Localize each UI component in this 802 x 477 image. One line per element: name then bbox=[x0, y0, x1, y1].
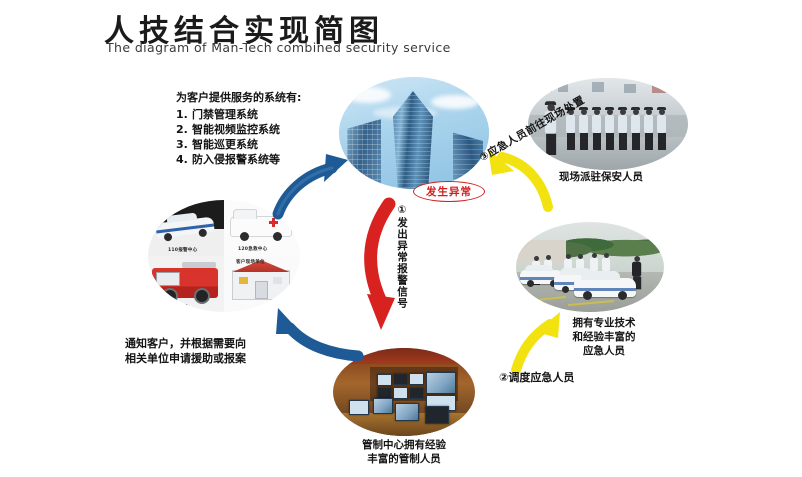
guard-head bbox=[633, 109, 639, 115]
officer-body bbox=[632, 262, 641, 277]
page-title-en: The diagram of Man-Tech combined securit… bbox=[106, 40, 451, 55]
list-item: 1.门禁管理系统 bbox=[176, 107, 301, 122]
guard-head bbox=[581, 109, 587, 115]
guard-body bbox=[631, 115, 640, 133]
car-wheel bbox=[527, 280, 534, 287]
service-list-heading: 为客户提供服务的系统有: bbox=[176, 90, 301, 105]
list-item-number: 4. bbox=[176, 152, 192, 167]
guard-body bbox=[618, 115, 627, 133]
caption-line: 管制中心拥有经验 bbox=[329, 438, 479, 452]
site-building bbox=[232, 270, 290, 300]
status-badge-abnormal: 发生异常 bbox=[413, 181, 485, 202]
guard-figure bbox=[618, 107, 627, 150]
window-shape bbox=[558, 83, 568, 92]
background-wall bbox=[516, 240, 566, 263]
window-shape bbox=[542, 84, 552, 92]
car-wheel bbox=[240, 232, 249, 241]
car-cabin bbox=[166, 213, 197, 224]
guard-body bbox=[644, 115, 653, 133]
caption-control-center: 管制中心拥有经验 丰富的管制人员 bbox=[329, 438, 479, 466]
notify-line: 相关单位申请援助或报案 bbox=[125, 351, 246, 366]
caption-line: 丰富的管制人员 bbox=[329, 452, 479, 466]
caption-onsite-guards: 现场派驻保安人员 bbox=[559, 170, 643, 184]
guard-body bbox=[592, 115, 601, 133]
wall-monitor bbox=[377, 374, 392, 386]
guard-body bbox=[605, 115, 614, 133]
list-item-number: 1. bbox=[176, 107, 192, 122]
red-arrow-alarm-signal bbox=[355, 198, 421, 338]
wall-map-display bbox=[426, 372, 456, 394]
fire-truck bbox=[152, 268, 218, 298]
window-shape bbox=[652, 83, 666, 93]
quadrant-label-site: 客户现场单位 bbox=[236, 259, 265, 265]
wall-monitor bbox=[409, 387, 424, 399]
ladder bbox=[182, 262, 216, 268]
list-item-label: 防入侵报警系统等 bbox=[192, 153, 280, 166]
guard-body bbox=[566, 115, 575, 133]
guard-legs bbox=[645, 133, 653, 150]
guard-legs bbox=[580, 133, 588, 150]
quadrant-label-police: 110报警中心 bbox=[168, 247, 197, 253]
list-item-label: 门禁管理系统 bbox=[192, 108, 258, 121]
car-wheel bbox=[164, 233, 173, 242]
blue-arrow-notify-client bbox=[272, 300, 364, 366]
car-wheel bbox=[273, 232, 282, 241]
building-window bbox=[239, 277, 248, 284]
list-item-label: 智能视频监控系统 bbox=[192, 123, 280, 136]
cloud-shape bbox=[431, 95, 479, 109]
list-item-label: 智能巡更系统 bbox=[192, 138, 258, 151]
desk-monitor bbox=[349, 400, 369, 415]
cloud-shape bbox=[345, 87, 391, 103]
guard-legs bbox=[632, 133, 640, 150]
desk-monitor bbox=[373, 398, 393, 414]
quadrant-label-ambulance: 120急救中心 bbox=[238, 246, 267, 252]
wall-monitor bbox=[393, 387, 408, 399]
window-shape bbox=[624, 84, 636, 93]
car-wheel bbox=[618, 291, 627, 300]
guard-legs bbox=[606, 133, 614, 150]
blue-arrow-to-building bbox=[272, 148, 364, 222]
guard-figure bbox=[605, 107, 614, 150]
desk-monitor bbox=[425, 406, 449, 424]
window-shape bbox=[592, 82, 604, 92]
officer-body bbox=[602, 258, 610, 271]
desk-monitor bbox=[395, 403, 419, 421]
wall-monitor bbox=[409, 373, 424, 385]
guard-head bbox=[620, 109, 626, 115]
guard-head bbox=[646, 109, 652, 115]
car-stripe bbox=[574, 288, 636, 291]
officer-body bbox=[590, 258, 598, 271]
guard-head bbox=[607, 109, 613, 115]
guard-figure bbox=[592, 107, 601, 150]
guard-body bbox=[657, 115, 666, 133]
guard-head bbox=[594, 109, 600, 115]
quadrant-label-fire: 119火警中心 bbox=[160, 304, 189, 310]
car-wheel bbox=[562, 286, 569, 293]
truck-window bbox=[156, 272, 180, 286]
truck-wheel bbox=[194, 288, 210, 304]
list-item-number: 3. bbox=[176, 137, 192, 152]
guard-body bbox=[579, 115, 588, 133]
guard-figure bbox=[579, 107, 588, 150]
list-item: 2.智能视频监控系统 bbox=[176, 122, 301, 137]
diagram-canvas: 人技结合实现简图 The diagram of Man-Tech combine… bbox=[0, 0, 802, 477]
police-car bbox=[155, 217, 214, 239]
photo-patrol-cars bbox=[516, 222, 664, 312]
ambulance-cabin bbox=[233, 209, 257, 219]
wall-monitor bbox=[393, 373, 408, 385]
guard-legs bbox=[619, 133, 627, 150]
building-window bbox=[273, 277, 282, 284]
quadrant-fire: 119火警中心 bbox=[148, 256, 224, 312]
quadrant-police: 110报警中心 bbox=[148, 200, 224, 256]
step-label-dispatch-staff: ②调度应急人员 bbox=[499, 370, 574, 385]
guard-head bbox=[659, 109, 665, 115]
guard-figure bbox=[657, 107, 666, 150]
guard-legs bbox=[658, 133, 666, 150]
step-label-alarm-signal: ①发出异常报警信号 bbox=[392, 204, 408, 309]
guard-figure bbox=[631, 107, 640, 150]
guard-legs bbox=[593, 133, 601, 150]
patrol-car-foreground bbox=[574, 278, 636, 297]
yellow-arrow-dispatch-staff bbox=[502, 310, 578, 376]
car-wheel bbox=[583, 291, 592, 300]
text-notify-client: 通知客户，并根据需要向 相关单位申请援助或报案 bbox=[125, 336, 246, 366]
truck-wheel bbox=[162, 288, 178, 304]
guard-legs bbox=[567, 133, 575, 150]
guard-figure bbox=[644, 107, 653, 150]
building-door bbox=[255, 281, 268, 299]
car-wheel bbox=[198, 228, 207, 237]
notify-line: 通知客户，并根据需要向 bbox=[125, 336, 246, 351]
list-item-number: 2. bbox=[176, 122, 192, 137]
